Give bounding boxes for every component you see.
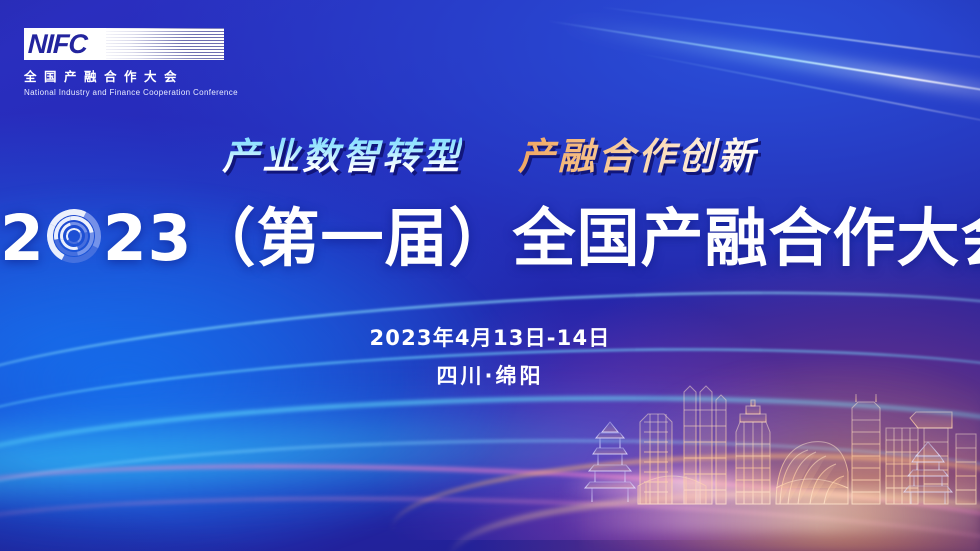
vignette-overlay <box>0 0 980 551</box>
conference-banner: NIFC 全国产融合作大会 National Industry and Fina… <box>0 0 980 551</box>
